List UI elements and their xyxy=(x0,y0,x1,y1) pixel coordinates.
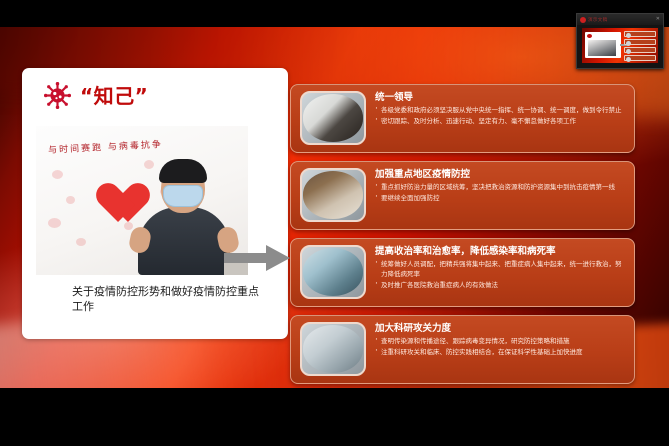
letterbox-top xyxy=(0,0,669,27)
pip-preview-window[interactable]: 演示文稿 ✕ xyxy=(576,13,664,69)
list-item[interactable]: 加强重点地区疫情防控 重点抓好防治力量的区域统筹，坚决把救治资源和防护资源集中到… xyxy=(290,161,635,230)
bullet-item: 密切跟踪、及时分析、迅速行动、坚定有力、毫不懈怠做好各项工作 xyxy=(375,117,625,127)
photo-calligraphy-text: 与时间赛跑 与病毒抗争 xyxy=(48,137,163,156)
list-item[interactable]: 加大科研攻关力度 查明传染源和传播途径、跟踪病毒变异情况，研究防控策略和措施 注… xyxy=(290,315,635,384)
bullet-item: 及时推广各医院救治重症病人的有效做法 xyxy=(375,281,625,291)
hero-photo: 与时间赛跑 与病毒抗争 xyxy=(36,126,248,275)
pip-titlebar[interactable]: 演示文稿 ✕ xyxy=(577,14,663,25)
presentation-slide: “知己” 与时间赛跑 与病毒抗争 xyxy=(0,27,669,388)
pip-window-title: 演示文稿 xyxy=(588,17,608,23)
bullet-item: 各级党委和政府必须坚决服从党中央统一指挥、统一协调、统一调度，做到令行禁止 xyxy=(375,106,625,116)
heart-icon xyxy=(88,167,134,209)
card-body: 提高收治率和治愈率，降低感染率和病死率 统筹做好人员调配，把精兵强将集中起来、把… xyxy=(375,245,625,299)
right-arrow-icon xyxy=(224,243,290,273)
bullet-item: 要继续全面加强防控 xyxy=(375,194,625,204)
page-title: “知己” xyxy=(80,86,148,106)
left-content-panel: “知己” 与时间赛跑 与病毒抗争 xyxy=(22,68,288,339)
bullet-item: 重点抓好防治力量的区域统筹，坚决把救治资源和防护资源集中到抗击疫情第一线 xyxy=(375,183,625,193)
bullet-item: 注重科研攻关和临床、防控实践相结合，在保证科学性基础上加快进度 xyxy=(375,348,625,358)
bullet-item: 统筹做好人员调配，把精兵强将集中起来、把重症病人集中起来，统一进行救治，努力降低… xyxy=(375,260,625,279)
screen-root: “知己” 与时间赛跑 与病毒抗争 xyxy=(0,0,669,446)
photo-subject xyxy=(130,157,238,275)
bullet-item: 查明传染源和传播途径、跟踪病毒变异情况，研究防控策略和措施 xyxy=(375,337,625,347)
card-thumbnail xyxy=(300,245,366,299)
card-bullets: 各级党委和政府必须坚决服从党中央统一指挥、统一协调、统一调度，做到令行禁止 密切… xyxy=(375,106,625,127)
coronavirus-icon xyxy=(44,82,71,109)
pip-slide-preview xyxy=(582,28,658,63)
card-title: 加大科研攻关力度 xyxy=(375,322,625,335)
list-item[interactable]: 统一领导 各级党委和政府必须坚决服从党中央统一指挥、统一协调、统一调度，做到令行… xyxy=(290,84,635,153)
card-title: 统一领导 xyxy=(375,91,625,104)
card-thumbnail xyxy=(300,322,366,376)
card-bullets: 查明传染源和传播途径、跟踪病毒变异情况，研究防控策略和措施 注重科研攻关和临床、… xyxy=(375,337,625,358)
card-body: 加大科研攻关力度 查明传染源和传播途径、跟踪病毒变异情况，研究防控策略和措施 注… xyxy=(375,322,625,376)
card-title: 加强重点地区疫情防控 xyxy=(375,168,625,181)
card-thumbnail xyxy=(300,168,366,222)
card-body: 加强重点地区疫情防控 重点抓好防治力量的区域统筹，坚决把救治资源和防护资源集中到… xyxy=(375,168,625,222)
card-thumbnail xyxy=(300,91,366,145)
card-body: 统一领导 各级党委和政府必须坚决服从党中央统一指挥、统一协调、统一调度，做到令行… xyxy=(375,91,625,145)
app-logo-icon xyxy=(580,17,586,23)
list-item[interactable]: 提高收治率和治愈率，降低感染率和病死率 统筹做好人员调配，把精兵强将集中起来、把… xyxy=(290,238,635,307)
panel-title-row: “知己” xyxy=(44,82,148,109)
close-icon[interactable]: ✕ xyxy=(656,17,660,22)
photo-caption: 关于疫情防控形势和做好疫情防控重点工作 xyxy=(72,284,262,314)
card-title: 提高收治率和治愈率，降低感染率和病死率 xyxy=(375,245,625,258)
letterbox-bottom xyxy=(0,388,669,446)
card-list: 统一领导 各级党委和政府必须坚决服从党中央统一指挥、统一协调、统一调度，做到令行… xyxy=(290,84,635,388)
card-bullets: 统筹做好人员调配，把精兵强将集中起来、把重症病人集中起来，统一进行救治，努力降低… xyxy=(375,260,625,290)
card-bullets: 重点抓好防治力量的区域统筹，坚决把救治资源和防护资源集中到抗击疫情第一线 要继续… xyxy=(375,183,625,204)
